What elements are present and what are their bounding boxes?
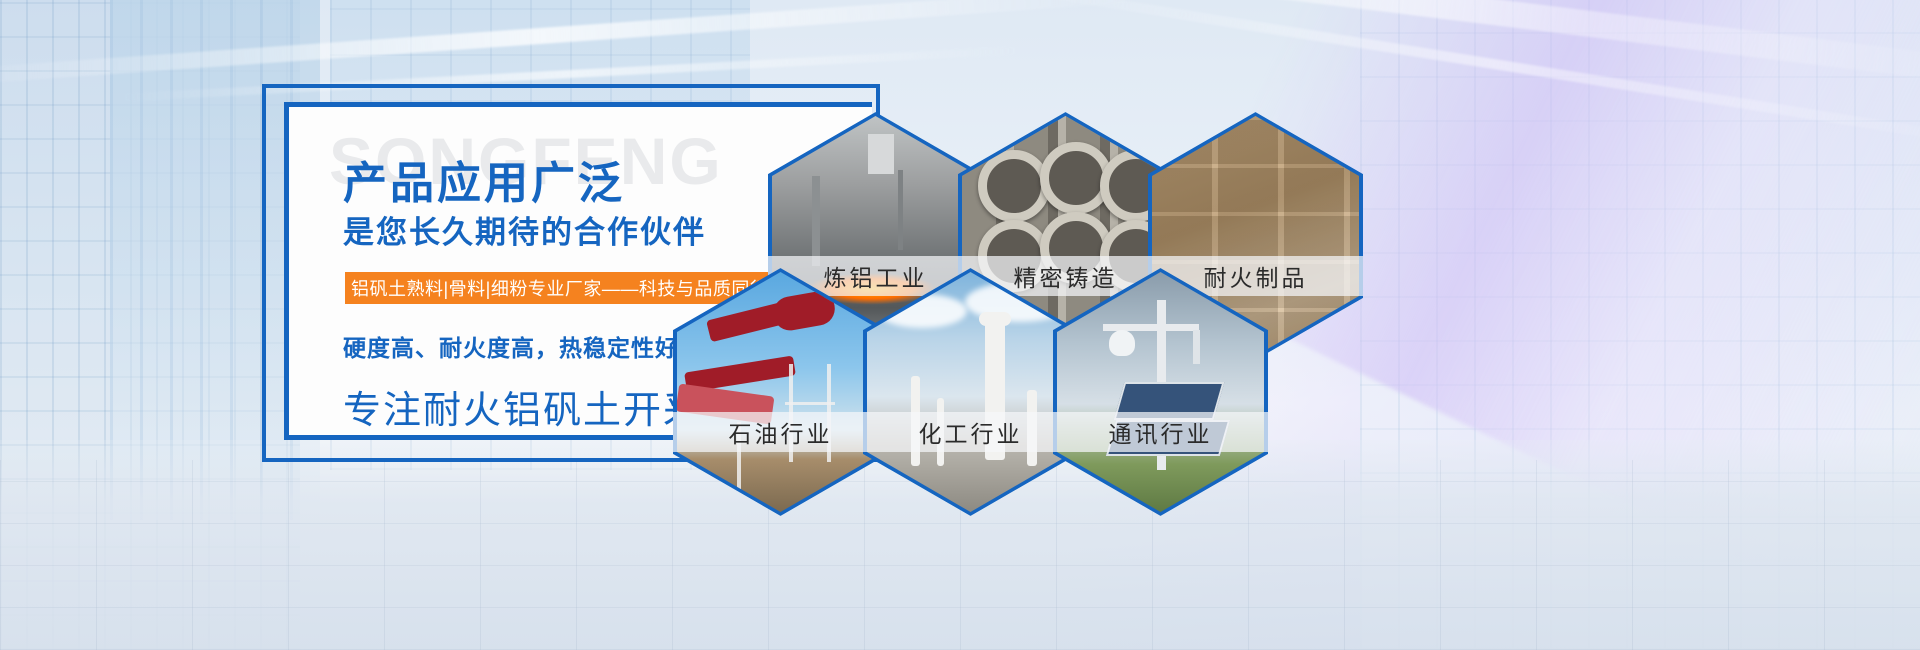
hexagon-grid: 炼铝工业 精密铸造 耐火制品 — [0, 0, 1920, 650]
promotional-banner: SONGFENG 产品应用广泛 是您长久期待的合作伙伴 铝矾土熟料|骨料|细粉专… — [0, 0, 1920, 650]
hex-label: 化工行业 — [863, 412, 1078, 452]
hex-label: 石油行业 — [673, 412, 888, 452]
hex-label: 通讯行业 — [1053, 412, 1268, 452]
